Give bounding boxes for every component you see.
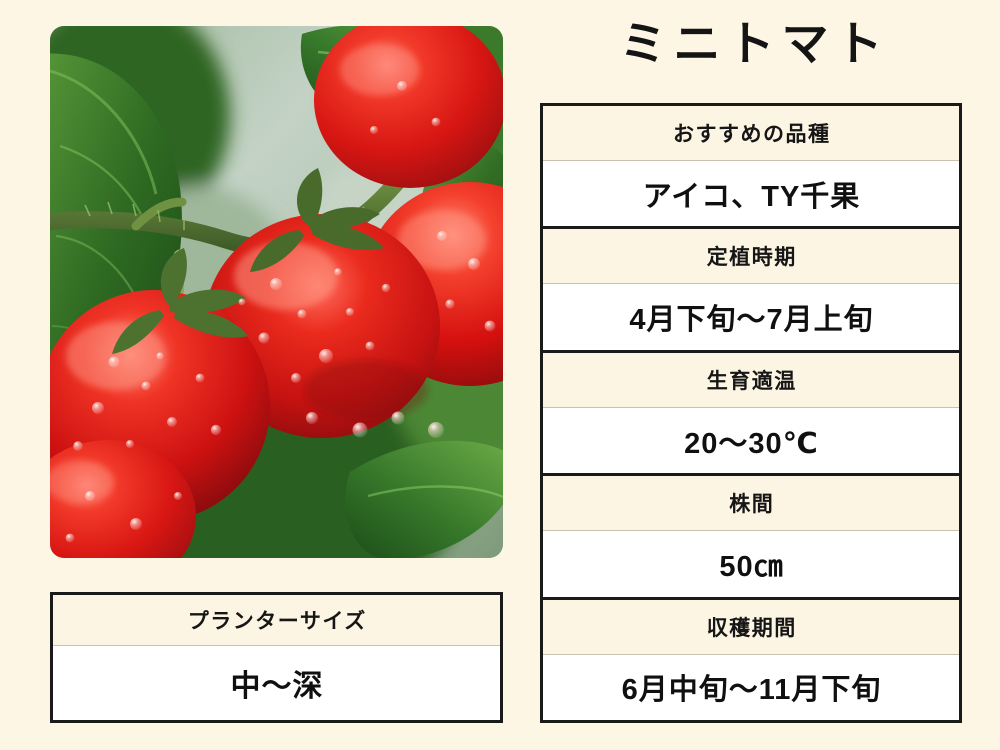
planter-size-table: プランターサイズ 中〜深: [50, 592, 503, 723]
mini-tomato-spec-table: おすすめの品種 アイコ、TY千果 定植時期 4月下旬〜7月上旬 生育適温 20〜…: [540, 103, 962, 723]
spec-header-planting-period: 定植時期: [543, 229, 959, 284]
spec-block-plant-spacing: 株間 50㎝: [540, 473, 962, 599]
spec-block-harvest-period: 収穫期間 6月中旬〜11月下旬: [540, 597, 962, 723]
spec-value-harvest-period: 6月中旬〜11月下旬: [543, 655, 959, 720]
spec-block-planter-size: プランターサイズ 中〜深: [50, 592, 503, 723]
page-title: ミニトマト: [540, 14, 962, 74]
spec-header-plant-spacing: 株間: [543, 476, 959, 531]
tomato-illustration: [50, 26, 503, 558]
spec-header-harvest-period: 収穫期間: [543, 600, 959, 655]
spec-block-planting-period: 定植時期 4月下旬〜7月上旬: [540, 226, 962, 352]
spec-block-variety: おすすめの品種 アイコ、TY千果: [540, 103, 962, 229]
spec-value-plant-spacing: 50㎝: [543, 531, 959, 596]
spec-header-variety: おすすめの品種: [543, 106, 959, 161]
spec-value-planting-period: 4月下旬〜7月上旬: [543, 284, 959, 349]
spec-value-optimal-temperature: 20〜30℃: [543, 408, 959, 473]
spec-value-variety: アイコ、TY千果: [543, 161, 959, 226]
mini-tomato-photo: [50, 26, 503, 558]
spec-header-optimal-temperature: 生育適温: [543, 353, 959, 408]
spec-block-optimal-temperature: 生育適温 20〜30℃: [540, 350, 962, 476]
spec-header-planter-size: プランターサイズ: [53, 595, 500, 646]
spec-value-planter-size: 中〜深: [53, 646, 500, 720]
